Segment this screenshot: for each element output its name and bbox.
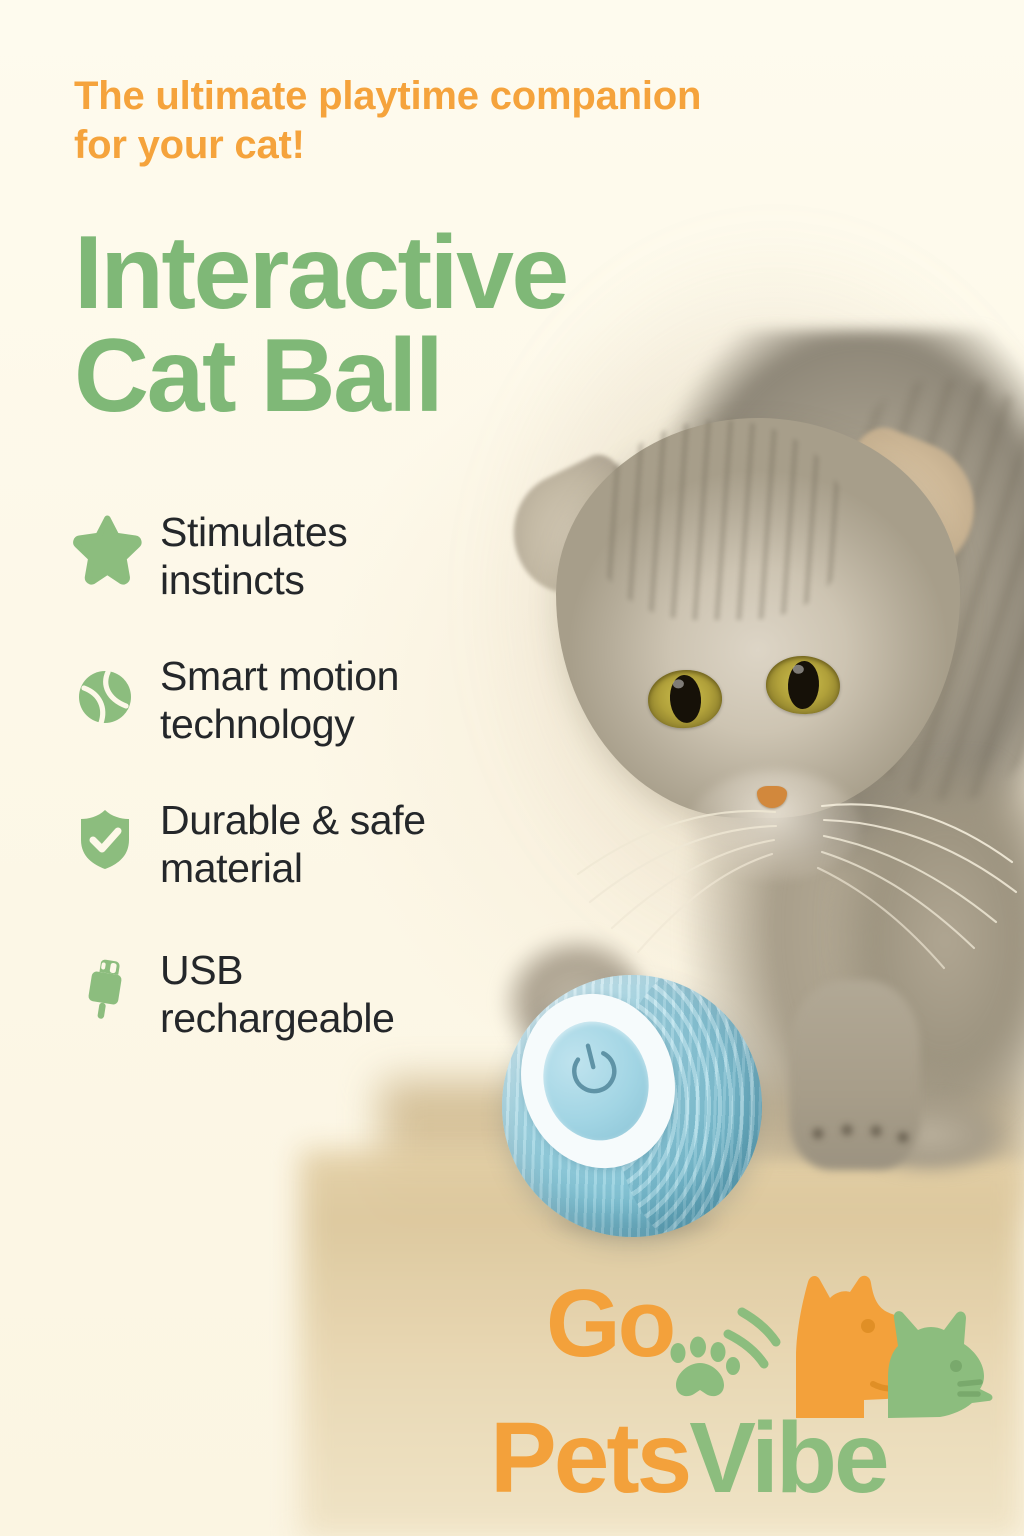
usb-plug-icon — [74, 952, 140, 1024]
paw-print-icon — [671, 1337, 741, 1397]
feature-item-durable-safe: Durable & safe material — [70, 794, 540, 944]
feature-line-1: Stimulates — [160, 508, 540, 556]
feature-line-1: Durable & safe — [160, 796, 540, 844]
motion-lines-icon — [728, 1312, 776, 1364]
feature-line-1: USB — [160, 946, 540, 994]
feature-line-2: technology — [160, 700, 540, 748]
feature-item-usb-rechargeable: USB rechargeable — [70, 944, 540, 1088]
feature-text: Stimulates instincts — [160, 506, 540, 605]
feature-line-1: Smart motion — [160, 652, 540, 700]
feature-item-stimulates-instincts: Stimulates instincts — [70, 506, 540, 650]
logo-word-vibe: Vibe — [689, 1402, 886, 1514]
ball-sphere — [502, 975, 762, 1237]
headline-line-1: Interactive — [74, 222, 794, 325]
feature-text: Durable & safe material — [160, 794, 540, 893]
cat-head-icon — [888, 1311, 992, 1418]
tagline-line-1: The ultimate playtime companion — [74, 72, 864, 121]
logo-word-go: Go — [546, 1276, 673, 1372]
feature-line-2: instincts — [160, 556, 540, 604]
logo-go-text: Go — [546, 1270, 673, 1377]
product-ball[interactable] — [502, 975, 762, 1237]
feature-line-2: material — [160, 844, 540, 892]
feature-text: Smart motion technology — [160, 650, 540, 749]
poster-canvas: The ultimate playtime companion for your… — [0, 0, 1024, 1536]
headline-line-2: Cat Ball — [74, 325, 794, 428]
feature-list: Stimulates instincts Smart motion techno… — [70, 506, 540, 1088]
tagline-line-2: for your cat! — [74, 121, 864, 170]
tennis-ball-icon — [74, 658, 140, 730]
cat-paw-toes — [800, 1105, 912, 1157]
tagline: The ultimate playtime companion for your… — [74, 72, 864, 170]
logo-word-pets: Pets — [490, 1402, 689, 1514]
feature-text: USB rechargeable — [160, 944, 540, 1043]
shield-check-icon — [74, 802, 140, 874]
cat-whiskers — [560, 770, 1024, 1000]
logo-wordmark-bottom: PetsVibe — [490, 1408, 887, 1508]
page-title: Interactive Cat Ball — [74, 222, 794, 428]
star-icon — [74, 514, 140, 586]
cat-forehead-stripes — [596, 420, 846, 620]
feature-item-smart-motion: Smart motion technology — [70, 650, 540, 794]
brand-logo[interactable]: Go PetsVibe — [528, 1258, 1024, 1520]
feature-line-2: rechargeable — [160, 994, 540, 1042]
